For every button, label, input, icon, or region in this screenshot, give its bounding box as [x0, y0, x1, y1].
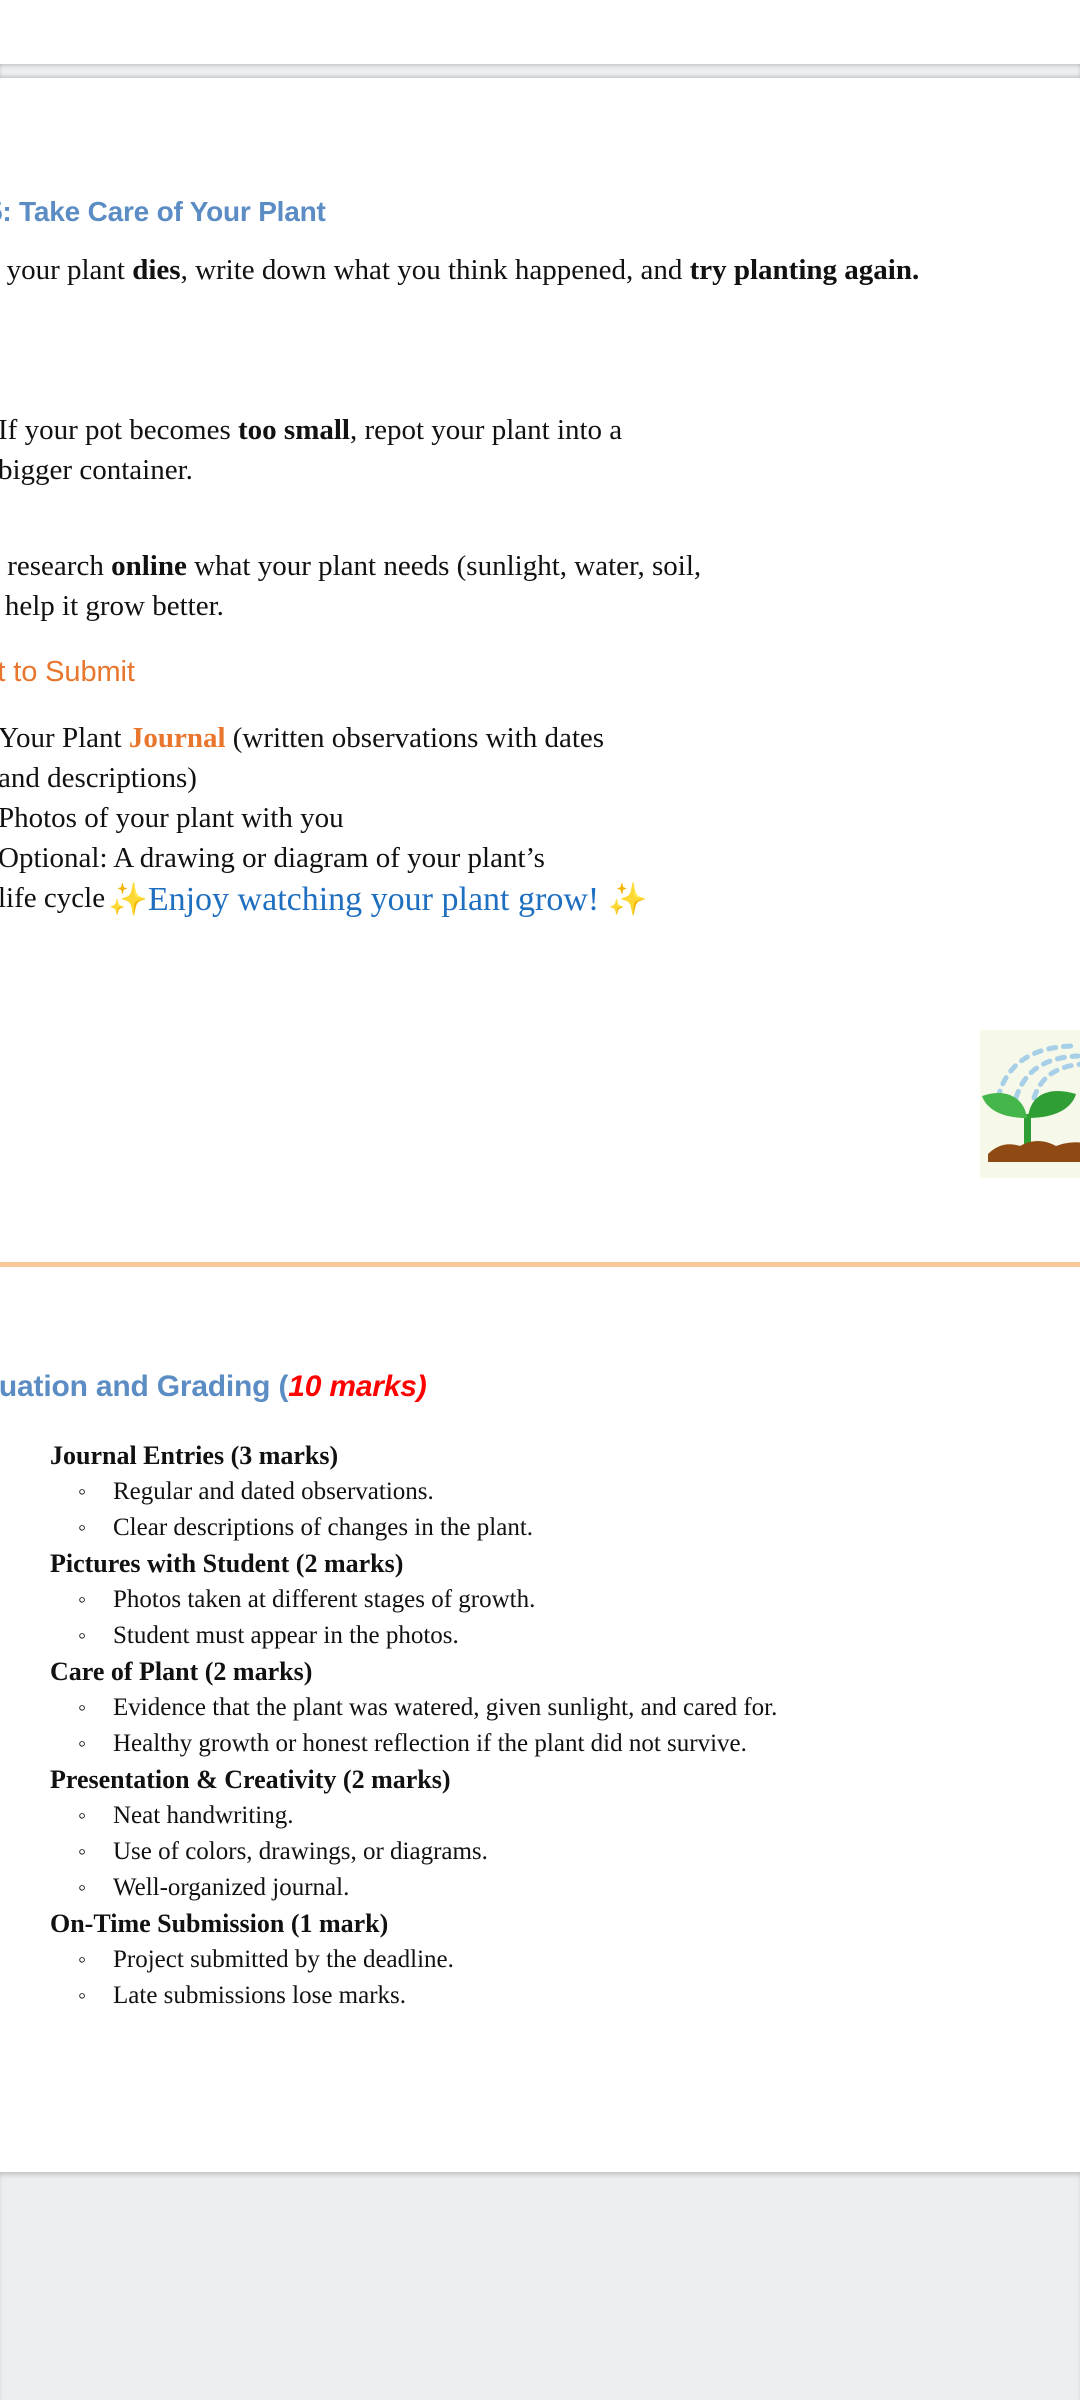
rubric-sub-item: Late submissions lose marks.	[0, 1978, 1080, 2014]
rubric-sub-list: Regular and dated observations.Clear des…	[0, 1474, 1080, 1546]
research-note: u can research online what your plant ne…	[0, 546, 738, 626]
rubric-sub-item: Neat handwriting.	[0, 1798, 1080, 1834]
text-run: online	[111, 550, 187, 582]
evaluation-heading: Evaluation and Grading (10 marks)	[0, 1370, 1080, 1404]
rubric-sub-list: Evidence that the plant was watered, giv…	[0, 1690, 1080, 1762]
text-run: , write down what you think happened, an…	[181, 254, 690, 286]
enjoy-message: ✨Enjoy watching your plant grow! ✨	[0, 878, 1080, 921]
rubric-criterion-title: Presentation & Creativity (2 marks)	[0, 1762, 1080, 1798]
research-note-line2: c.) to help it grow better.	[0, 590, 224, 622]
section-divider	[0, 1262, 1080, 1267]
page-gap-bottom	[0, 2172, 1080, 2400]
list-item: If your plant dies, write down what you …	[0, 250, 1080, 290]
rubric-criterion-title: Care of Plant (2 marks)	[0, 1654, 1080, 1690]
text-run: try planting again.	[690, 254, 920, 286]
rubric-sub-item: Regular and dated observations.	[0, 1474, 1080, 1510]
rubric-sub-item: Well-organized journal.	[0, 1870, 1080, 1906]
rubric-sub-item: Use of colors, drawings, or diagrams.	[0, 1834, 1080, 1870]
rubric-sub-item: Clear descriptions of changes in the pla…	[0, 1510, 1080, 1546]
page-gap-top	[0, 64, 1080, 78]
sparkles-icon-left: ✨	[108, 881, 148, 917]
rubric-sub-item: Project submitted by the deadline.	[0, 1942, 1080, 1978]
rubric-sub-list: Photos taken at different stages of grow…	[0, 1582, 1080, 1654]
rubric-sub-item: Evidence that the plant was watered, giv…	[0, 1690, 1080, 1726]
rubric-criterion-title: On-Time Submission (1 mark)	[0, 1906, 1080, 1942]
evaluation-marks: 10 marks	[288, 1370, 417, 1403]
text-run: what your plant needs (sunlight, water, …	[187, 550, 701, 582]
seedling-watering-illustration	[980, 1030, 1080, 1178]
rubric-sub-list: Neat handwriting.Use of colors, drawings…	[0, 1798, 1080, 1906]
rubric-sub-list: Project submitted by the deadline.Late s…	[0, 1942, 1080, 2014]
what-to-submit-heading: What to Submit	[0, 656, 1080, 689]
evaluation-heading-text: Evaluation and Grading (	[0, 1370, 288, 1403]
rubric-sub-item: Healthy growth or honest reflection if t…	[0, 1726, 1080, 1762]
enjoy-text: Enjoy watching your plant grow!	[148, 881, 599, 918]
rubric-list: Journal Entries (3 marks)Regular and dat…	[0, 1438, 1080, 2014]
document-viewer[interactable]: tep 5: Take Care of Your Plant If your p…	[0, 0, 1080, 2400]
list-item: Photos of your plant with you	[0, 798, 638, 838]
text-run: Your Plant	[0, 722, 129, 754]
rubric-sub-item: Photos taken at different stages of grow…	[0, 1582, 1080, 1618]
rubric-sub-item: Student must appear in the photos.	[0, 1618, 1080, 1654]
rubric-criterion-title: Pictures with Student (2 marks)	[0, 1546, 1080, 1582]
step5-bullet-list: If your plant dies, write down what you …	[0, 250, 1080, 328]
text-run: u can research	[0, 550, 111, 582]
text-run: If your pot becomes	[0, 414, 238, 446]
rubric-criterion-title: Journal Entries (3 marks)	[0, 1438, 1080, 1474]
list-item: If your pot becomes too small, repot you…	[0, 410, 698, 490]
text-run: dies	[132, 254, 180, 286]
text-run: Journal	[129, 722, 226, 754]
text-run: Photos of your plant with you	[0, 802, 344, 834]
evaluation-marks-close: )	[417, 1370, 427, 1403]
previous-page-stub	[0, 0, 1080, 64]
text-run: too small	[238, 414, 350, 446]
list-item: Your Plant Journal (written observations…	[0, 718, 638, 798]
sparkles-icon-right: ✨	[608, 881, 648, 917]
step5-bullet-list-2: If your pot becomes too small, repot you…	[0, 410, 1080, 490]
step5-heading: tep 5: Take Care of Your Plant	[0, 196, 1080, 228]
text-run: If your plant	[0, 254, 132, 286]
